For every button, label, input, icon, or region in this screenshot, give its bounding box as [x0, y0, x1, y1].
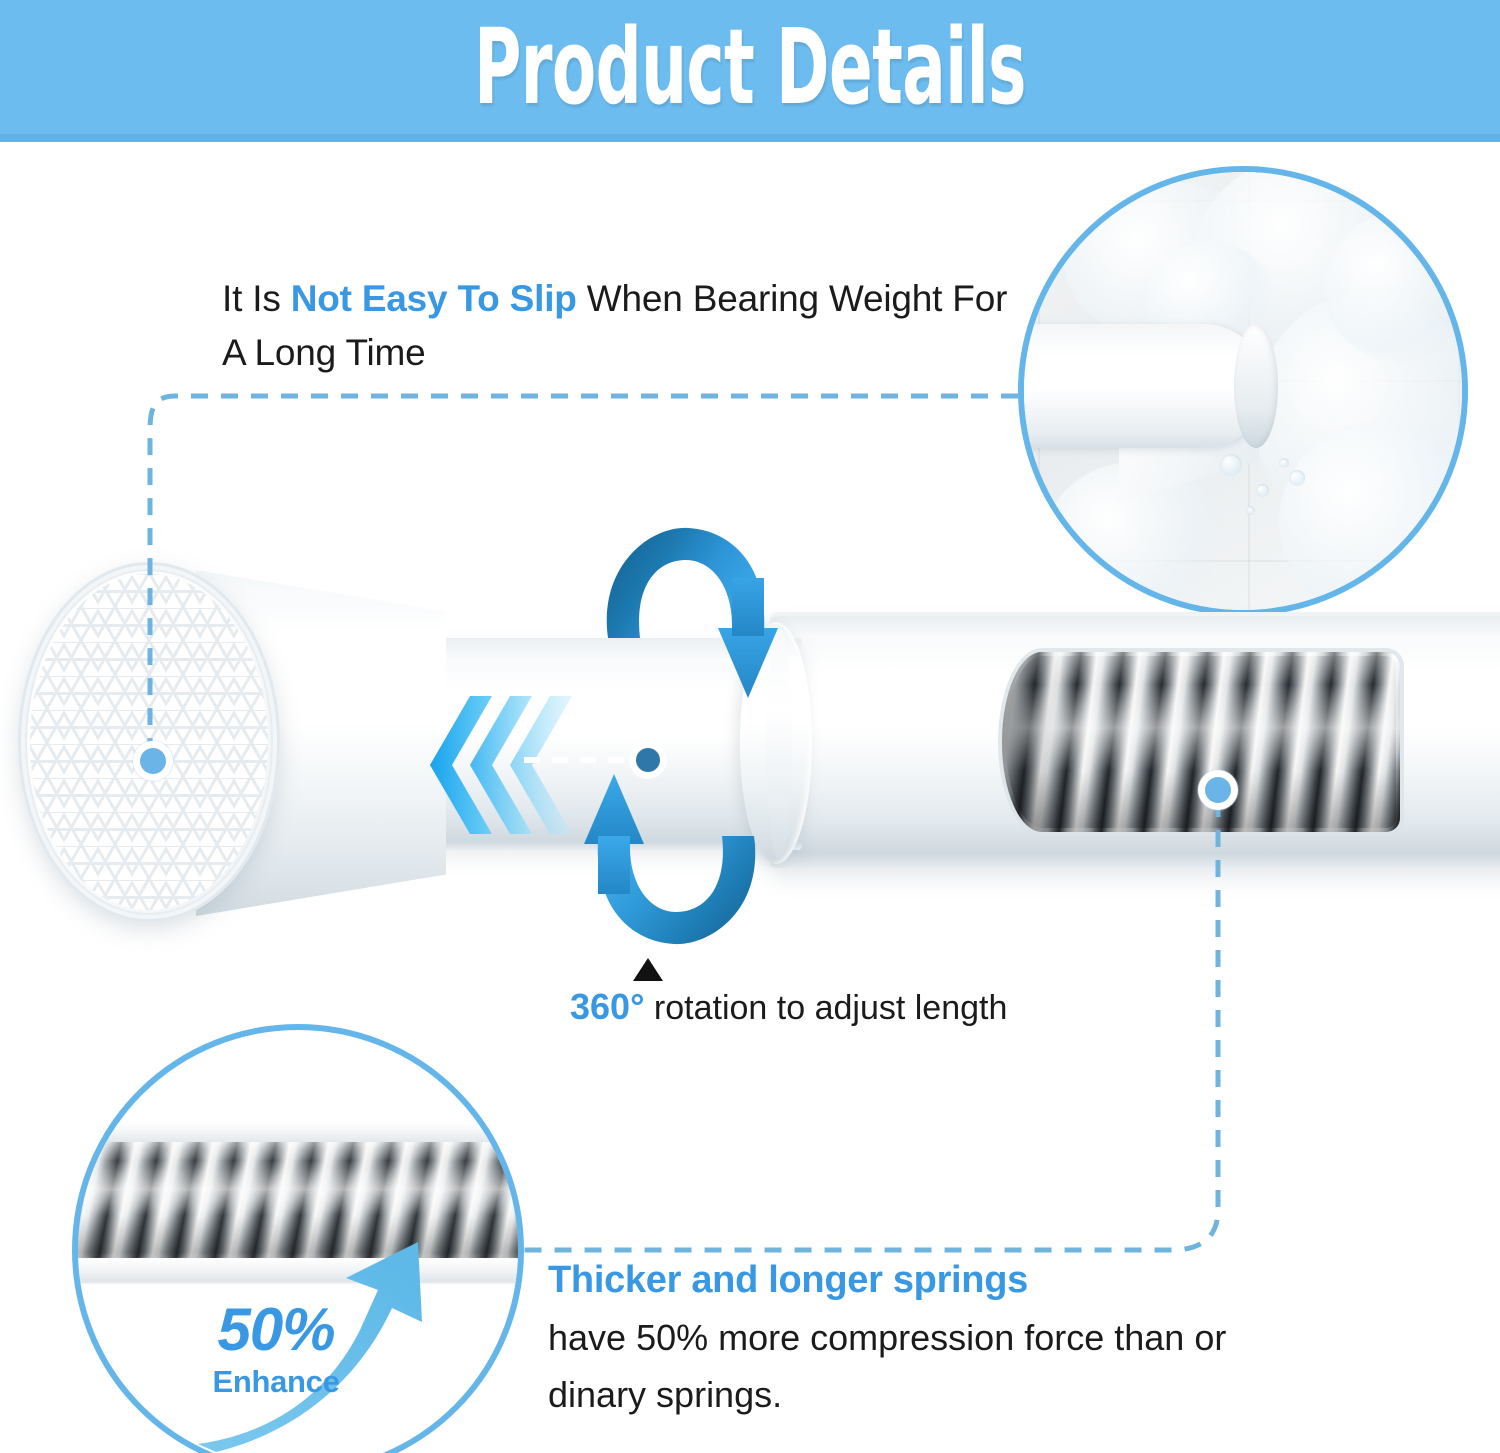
enhance-badge: 50% Enhance [196, 1300, 356, 1397]
chevrons-svg [430, 690, 590, 840]
rotation-arrows-svg [572, 520, 788, 952]
water-splash-shape [1324, 212, 1468, 362]
rotation-arrow-ring [572, 520, 788, 952]
honeycomb-pattern [30, 574, 268, 910]
enhance-percent: 50% [196, 1300, 356, 1360]
spring-inner-shadow [1002, 652, 1060, 832]
callout-dot-spring [1205, 777, 1231, 803]
banner-bottom-edge [0, 134, 1500, 142]
rotation-caption-text: rotation to adjust length [644, 989, 1007, 1027]
spring-heading: Thicker and longer springs [548, 1252, 1288, 1309]
rotation-axis-dot [636, 748, 660, 772]
rod-end-cap-in-water [1234, 324, 1278, 448]
water-droplet [1279, 458, 1289, 468]
water-splash-circle [1018, 166, 1468, 616]
compression-chevrons [430, 690, 590, 840]
water-droplet [1220, 454, 1242, 476]
product-details-page: Product Details It Is Not Easy To Slip W… [0, 0, 1500, 1453]
slip-callout-text: It Is Not Easy To Slip When Bearing Weig… [222, 272, 1012, 380]
water-splash-shape [1279, 422, 1468, 616]
rotation-arrow-up [584, 774, 644, 844]
rotation-arrow-up-shaft [598, 836, 630, 894]
page-title: Product Details [285, 8, 1215, 126]
water-droplet [1246, 506, 1255, 515]
triangle-up-icon [633, 958, 663, 981]
honeycomb-end-cap [18, 562, 280, 922]
rotation-arrow-down-shaft [732, 578, 764, 636]
spring-callout-text: Thicker and longer springs have 50% more… [548, 1252, 1288, 1423]
water-droplet [1289, 470, 1305, 486]
rotation-caption: 360° rotation to adjust length [570, 985, 1130, 1030]
water-droplet [1256, 484, 1269, 497]
slip-text-prefix: It Is [222, 278, 291, 319]
spring-shading [1002, 652, 1400, 832]
slip-text-highlight: Not Easy To Slip [291, 278, 577, 319]
callout-dot-endcap [140, 748, 166, 774]
spring-body: have 50% more compression force than or … [548, 1317, 1226, 1415]
rod-end-in-water [1018, 324, 1266, 448]
rotation-arrow-down [718, 628, 778, 698]
enhance-label: Enhance [196, 1366, 356, 1397]
rotation-degrees: 360° [570, 986, 644, 1027]
spring-cutaway-window [1002, 652, 1400, 832]
